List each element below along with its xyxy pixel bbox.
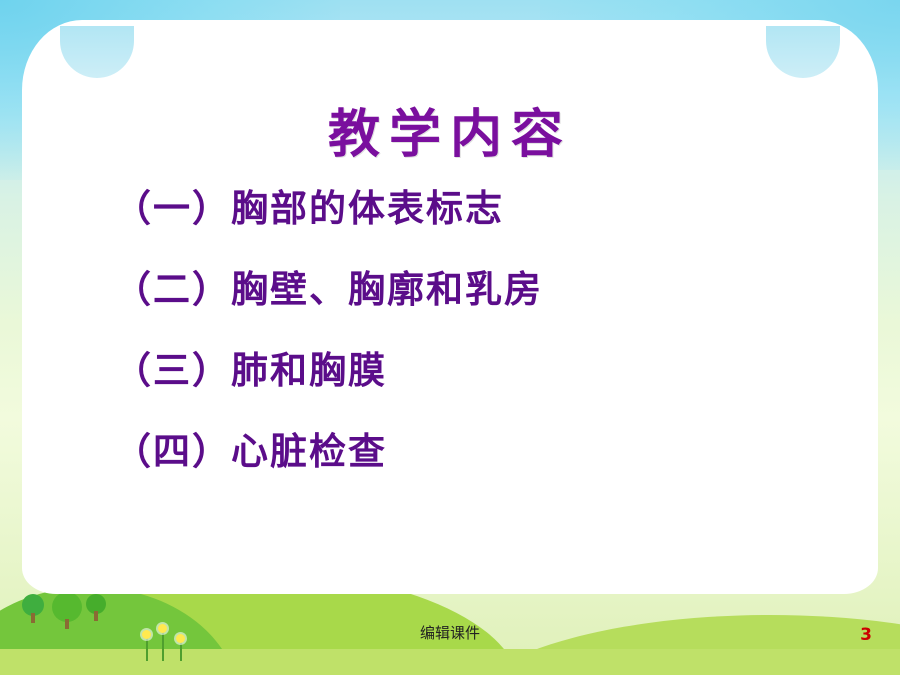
grass-strip-decoration — [0, 649, 900, 675]
tree-icon — [22, 594, 44, 623]
content-card: 教学内容 （一）胸部的体表标志 （二）胸壁、胸廓和乳房 （三）肺和胸膜 （四）心… — [22, 20, 878, 594]
card-notch-right — [766, 26, 840, 78]
card-notch-left — [60, 26, 134, 78]
bullet-list: （一）胸部的体表标志 （二）胸壁、胸廓和乳房 （三）肺和胸膜 （四）心脏检查 — [114, 190, 814, 514]
flower-stem — [180, 641, 182, 661]
list-item: （一）胸部的体表标志 — [114, 190, 814, 227]
footer-label: 编辑课件 — [0, 622, 900, 643]
list-item: （三）肺和胸膜 — [114, 352, 814, 389]
list-item: （四）心脏检查 — [114, 433, 814, 470]
page-number: 3 — [860, 625, 872, 645]
list-item: （二）胸壁、胸廓和乳房 — [114, 271, 814, 308]
tree-icon — [86, 594, 106, 621]
slide-title: 教学内容 — [22, 92, 878, 167]
slide-canvas: 教学内容 （一）胸部的体表标志 （二）胸壁、胸廓和乳房 （三）肺和胸膜 （四）心… — [0, 0, 900, 675]
